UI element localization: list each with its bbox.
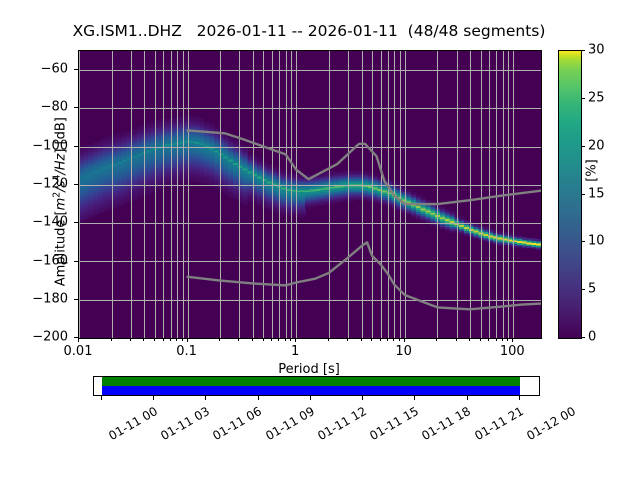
y-axis-label-unit-m: m <box>54 198 69 211</box>
x-axis-tick <box>111 338 112 341</box>
y-axis-tick <box>74 337 78 338</box>
ppsd-figure: XG.ISM1..DHZ 2026-01-11 -- 2026-01-11 (4… <box>0 0 640 480</box>
x-axis-tick <box>187 338 188 342</box>
y-axis-label-prefix: Amplitude [ <box>54 210 69 286</box>
data-coverage-timeline[interactable] <box>93 376 540 396</box>
x-axis-tick <box>502 338 503 341</box>
x-axis-tick <box>371 338 372 341</box>
x-axis-tick <box>78 338 79 342</box>
x-axis-tick <box>393 338 394 341</box>
x-axis-tick <box>163 338 164 341</box>
timeline-tick <box>310 396 311 400</box>
x-axis-tick <box>469 338 470 341</box>
timeline-tick-label: 01-11 00 <box>106 404 160 443</box>
x-axis-tick <box>496 338 497 341</box>
x-axis-tick <box>347 338 348 341</box>
colorbar-tick-label: 0 <box>588 330 596 345</box>
x-axis-tick-label: 1 <box>291 344 299 359</box>
timeline-tick-label: 01-12 00 <box>524 404 578 443</box>
colorbar-tick-label: 10 <box>588 234 605 249</box>
timeline-tick <box>205 396 206 400</box>
x-axis-tick <box>278 338 279 341</box>
x-axis-tick <box>252 338 253 341</box>
colorbar-tick-label: 25 <box>588 90 605 105</box>
y-axis-label-exp4: 4 <box>51 175 62 181</box>
y-axis-tick <box>74 222 78 223</box>
x-axis-tick-label: 100 <box>500 344 525 359</box>
x-axis-tick <box>328 338 329 341</box>
x-axis-tick-label: 10 <box>395 344 412 359</box>
timeline-tick <box>362 396 363 400</box>
timeline-tick <box>467 396 468 400</box>
timeline-tick-label: 01-11 18 <box>420 404 474 443</box>
colorbar[interactable] <box>558 50 582 339</box>
timeline-tick-label: 01-11 09 <box>263 404 317 443</box>
ppsd-density-canvas <box>79 51 541 338</box>
y-axis-label-suffix: ] [dB] <box>54 117 69 154</box>
x-axis-tick <box>380 338 381 341</box>
colorbar-tick <box>581 241 585 242</box>
y-axis-label-unit-s: /s <box>54 181 69 192</box>
colorbar-tick <box>581 337 585 338</box>
x-axis-tick <box>488 338 489 341</box>
x-axis-tick <box>143 338 144 341</box>
x-axis-tick <box>130 338 131 341</box>
ppsd-plot-area[interactable] <box>78 50 542 339</box>
y-axis-tick <box>74 146 78 147</box>
timeline-tick-label: 01-11 15 <box>367 404 421 443</box>
x-axis-tick <box>456 338 457 341</box>
colorbar-tick-label: 5 <box>588 282 596 297</box>
colorbar-tick <box>581 98 585 99</box>
colorbar-tick-label: 30 <box>588 43 605 58</box>
timeline-tick <box>153 396 154 400</box>
page-title: XG.ISM1..DHZ 2026-01-11 -- 2026-01-11 (4… <box>0 22 618 40</box>
y-axis-label-unit-hz: /Hz <box>54 154 69 175</box>
x-axis-tick <box>285 338 286 341</box>
x-axis-tick <box>512 338 513 342</box>
timeline-tick-label: 01-11 12 <box>315 404 369 443</box>
timeline-tick-label: 01-11 03 <box>158 404 212 443</box>
x-axis-tick <box>219 338 220 341</box>
y-axis-tick <box>74 69 78 70</box>
x-axis-tick-label: 0.1 <box>176 344 197 359</box>
x-axis-tick <box>399 338 400 341</box>
x-axis-tick <box>182 338 183 341</box>
x-axis-tick <box>404 338 405 342</box>
timeline-tick <box>258 396 259 400</box>
y-axis-tick <box>74 107 78 108</box>
x-axis-tick <box>436 338 437 341</box>
noise-model-curve-nlnm <box>188 242 541 309</box>
y-axis-tick <box>74 184 78 185</box>
x-axis-tick <box>387 338 388 341</box>
colorbar-tick <box>581 289 585 290</box>
ppsd-density-histogram <box>79 115 541 249</box>
x-axis-tick <box>507 338 508 341</box>
x-axis-tick <box>480 338 481 341</box>
x-axis-tick <box>170 338 171 341</box>
y-axis-tick <box>74 299 78 300</box>
x-axis-tick <box>361 338 362 341</box>
x-axis-tick <box>295 338 296 342</box>
timeline-tick <box>414 396 415 400</box>
x-axis-tick <box>238 338 239 341</box>
y-axis-label-exp2: 2 <box>51 192 62 198</box>
x-axis-tick <box>154 338 155 341</box>
x-axis-tick <box>176 338 177 341</box>
x-axis-tick <box>271 338 272 341</box>
timeline-segment-blue <box>102 386 520 395</box>
y-axis-tick <box>74 261 78 262</box>
timeline-segment-green <box>102 377 520 386</box>
timeline-tick-label: 01-11 21 <box>472 404 526 443</box>
x-axis-tick <box>263 338 264 341</box>
timeline-tick <box>101 396 102 400</box>
y-axis-label: Amplitude [m2/s4/Hz] [dB] <box>51 57 68 347</box>
timeline-tick-label: 01-11 06 <box>210 404 264 443</box>
timeline-tick <box>519 396 520 400</box>
x-axis-tick <box>290 338 291 341</box>
colorbar-label: [%] <box>585 141 600 201</box>
x-axis-label: Period [s] <box>78 362 540 377</box>
colorbar-tick <box>581 50 585 51</box>
